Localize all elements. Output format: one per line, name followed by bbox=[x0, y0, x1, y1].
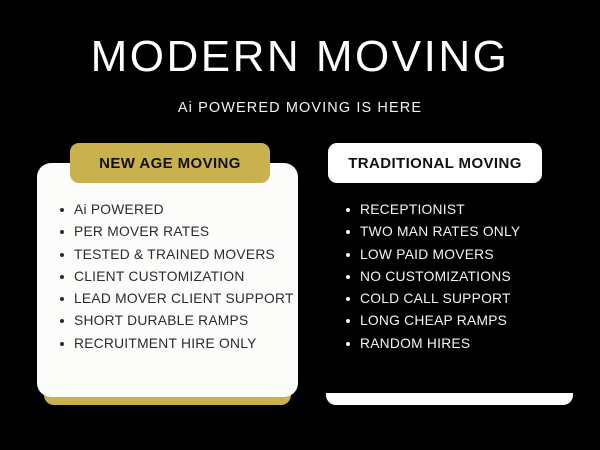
feature-list-new-age: Ai POWERED PER MOVER RATES TESTED & TRAI… bbox=[52, 203, 305, 359]
comparison-column-traditional: TRADITIONAL MOVING RECEPTIONIST TWO MAN … bbox=[312, 143, 587, 405]
list-item: NO CUSTOMIZATIONS bbox=[338, 270, 587, 284]
list-item: COLD CALL SUPPORT bbox=[338, 292, 587, 306]
list-item: CLIENT CUSTOMIZATION bbox=[52, 270, 305, 284]
list-item: TWO MAN RATES ONLY bbox=[338, 225, 587, 239]
poster-canvas: MODERN MOVING Ai POWERED MOVING IS HERE … bbox=[0, 0, 600, 450]
comparison-column-new-age: NEW AGE MOVING Ai POWERED PER MOVER RATE… bbox=[30, 143, 305, 405]
list-item: RECRUITMENT HIRE ONLY bbox=[52, 337, 305, 351]
list-item: SHORT DURABLE RAMPS bbox=[52, 314, 305, 328]
feature-list-traditional: RECEPTIONIST TWO MAN RATES ONLY LOW PAID… bbox=[338, 203, 587, 359]
list-item: RANDOM HIRES bbox=[338, 337, 587, 351]
badge-new-age-moving: NEW AGE MOVING bbox=[70, 143, 270, 183]
list-item: LOW PAID MOVERS bbox=[338, 248, 587, 262]
list-item: Ai POWERED bbox=[52, 203, 305, 217]
list-item: LEAD MOVER CLIENT SUPPORT bbox=[52, 292, 305, 306]
page-title: MODERN MOVING bbox=[0, 34, 600, 80]
list-item: RECEPTIONIST bbox=[338, 203, 587, 217]
page-subtitle: Ai POWERED MOVING IS HERE bbox=[0, 100, 600, 116]
list-item: PER MOVER RATES bbox=[52, 225, 305, 239]
list-item: TESTED & TRAINED MOVERS bbox=[52, 248, 305, 262]
list-item: LONG CHEAP RAMPS bbox=[338, 314, 587, 328]
poster-header: MODERN MOVING Ai POWERED MOVING IS HERE bbox=[0, 34, 600, 116]
badge-traditional-moving: TRADITIONAL MOVING bbox=[328, 143, 542, 183]
